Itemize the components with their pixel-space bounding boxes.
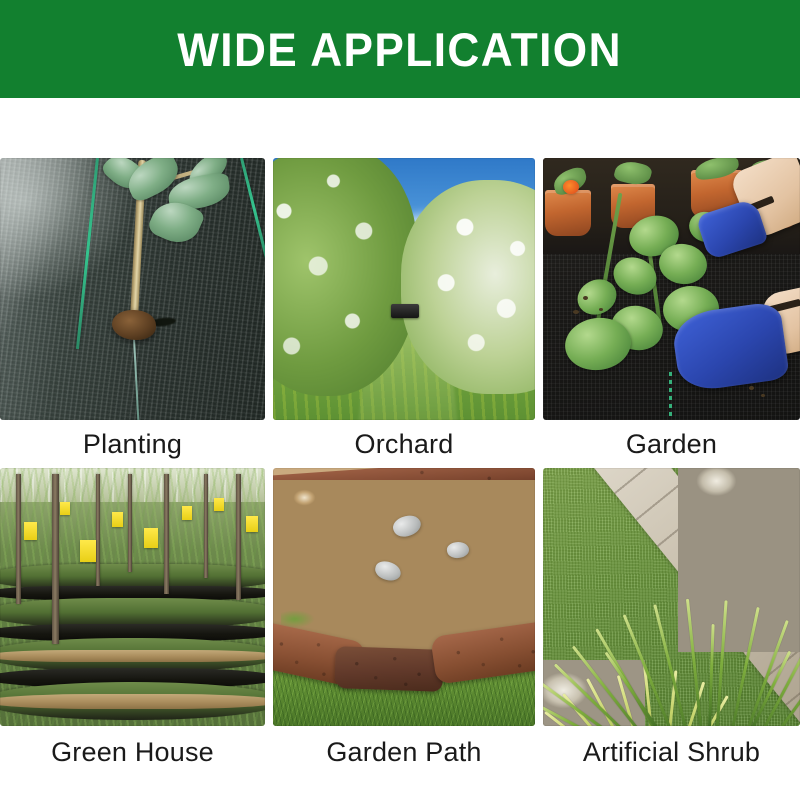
application-grid: Planting Orchard Garden bbox=[0, 104, 800, 800]
caption-orchard: Orchard bbox=[273, 420, 535, 468]
caption-garden-path: Garden Path bbox=[273, 726, 535, 778]
support-pole bbox=[204, 474, 208, 578]
support-pole bbox=[52, 474, 59, 644]
caption-garden: Garden bbox=[543, 420, 800, 468]
plant-root-ball bbox=[112, 310, 156, 340]
soil-crumb bbox=[599, 308, 603, 311]
photo-artificial-shrub[interactable] bbox=[543, 468, 800, 726]
caption-text: Garden Path bbox=[326, 737, 481, 768]
caption-planting: Planting bbox=[0, 420, 265, 468]
soil-crumb bbox=[573, 310, 579, 314]
soil-walkway bbox=[0, 694, 265, 709]
yellow-sticky-trap bbox=[112, 512, 123, 527]
terracotta-pot bbox=[545, 190, 591, 236]
yellow-sticky-trap bbox=[246, 516, 258, 532]
photo-orchard[interactable] bbox=[273, 158, 535, 420]
photo-garden[interactable] bbox=[543, 158, 800, 420]
caption-text: Green House bbox=[51, 737, 214, 768]
caption-text: Planting bbox=[83, 429, 182, 460]
infographic-page: WIDE APPLICATION bbox=[0, 0, 800, 800]
yellow-sticky-trap bbox=[60, 502, 70, 515]
soil-crumb bbox=[583, 296, 588, 300]
photo-green-house[interactable] bbox=[0, 468, 265, 726]
green-guide-line bbox=[669, 372, 672, 420]
photo-planting[interactable] bbox=[0, 158, 265, 420]
soil-crumb bbox=[749, 386, 754, 390]
page-title: WIDE APPLICATION bbox=[178, 26, 623, 73]
yellow-sticky-trap bbox=[144, 528, 158, 548]
brick-speckle bbox=[334, 646, 443, 692]
soil-walkway bbox=[0, 650, 265, 662]
yellow-sticky-trap bbox=[80, 540, 96, 562]
support-pole bbox=[236, 474, 241, 600]
soil-crumb bbox=[761, 394, 765, 397]
yellow-sticky-trap bbox=[182, 506, 192, 520]
orchard-vehicle bbox=[391, 304, 419, 318]
support-pole bbox=[128, 474, 132, 572]
photo-garden-path[interactable] bbox=[273, 468, 535, 726]
caption-green-house: Green House bbox=[0, 726, 265, 778]
caption-text: Orchard bbox=[355, 429, 454, 460]
support-pole bbox=[164, 474, 169, 594]
header-banner: WIDE APPLICATION bbox=[0, 0, 800, 98]
support-pole bbox=[16, 474, 21, 604]
caption-artificial-shrub: Artificial Shrub bbox=[543, 726, 800, 778]
yellow-sticky-trap bbox=[214, 498, 224, 511]
caption-text: Artificial Shrub bbox=[583, 737, 760, 768]
spiky-shrub bbox=[618, 572, 798, 726]
brick-edging-middle bbox=[334, 646, 443, 692]
support-pole bbox=[96, 474, 100, 586]
yellow-sticky-trap bbox=[24, 522, 37, 540]
caption-text: Garden bbox=[626, 429, 717, 460]
orange-flower bbox=[563, 180, 579, 194]
